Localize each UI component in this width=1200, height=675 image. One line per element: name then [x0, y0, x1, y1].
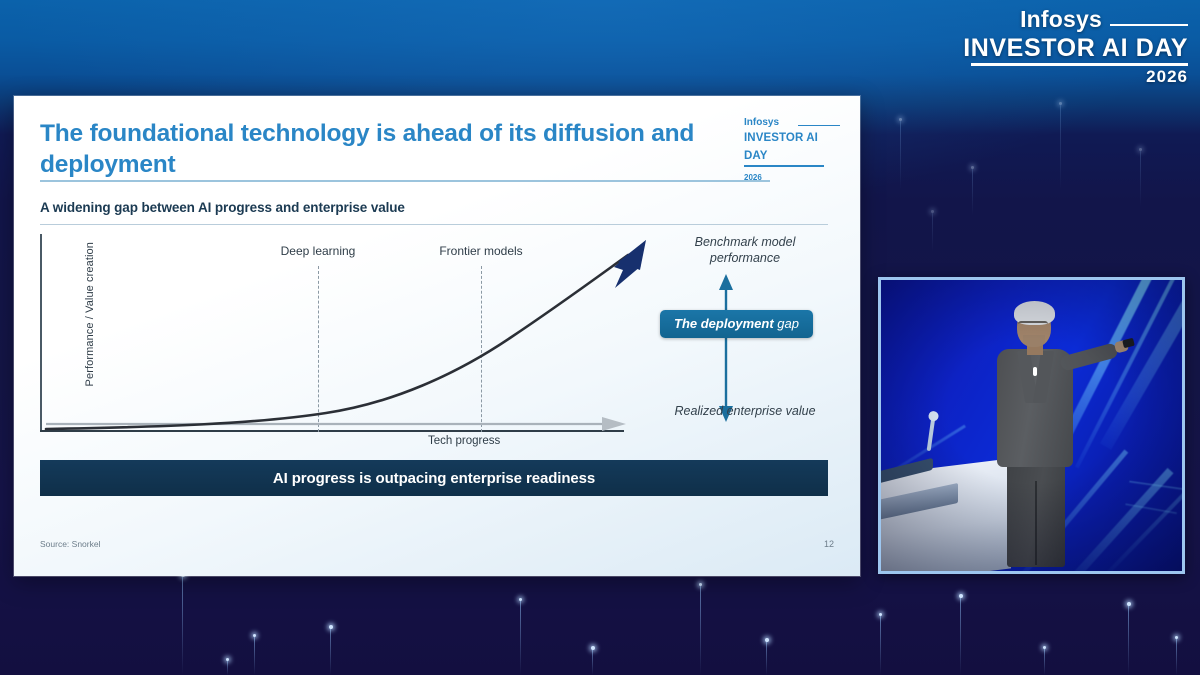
gap-double-arrow — [716, 272, 736, 424]
stage-scene — [881, 280, 1182, 571]
slide-logo-brand: Infosys — [744, 118, 840, 128]
event-logo-rule — [971, 63, 1188, 66]
presentation-slide: The foundational technology is ahead of … — [14, 96, 860, 576]
gap-top-label: Benchmark model performance — [650, 235, 840, 266]
deployment-gap-badge: The deployment gap — [660, 310, 813, 338]
video-vignette — [881, 280, 1182, 571]
subtitle-divider — [40, 224, 828, 225]
event-logo-year: 2026 — [963, 68, 1188, 85]
title-divider — [40, 180, 770, 182]
slide-logo-year: 2026 — [744, 173, 762, 182]
event-logo-title: INVESTOR AI DAY — [963, 35, 1188, 61]
realized-value-baseline-arrow — [46, 417, 626, 431]
slide-page-number: 12 — [824, 539, 834, 549]
slide-logo-rule — [744, 165, 824, 167]
deployment-gap-badge-suffix: gap — [774, 316, 799, 331]
event-logo-brand: Infosys — [1020, 8, 1188, 31]
slide-key-message-banner: AI progress is outpacing enterprise read… — [40, 460, 828, 496]
speaker-video-panel[interactable] — [878, 277, 1185, 574]
gap-bottom-label: Realized enterprise value — [640, 404, 850, 420]
slide-corner-logo: Infosys INVESTOR AI DAY 2026 — [744, 118, 840, 185]
slide-subtitle: A widening gap between AI progress and e… — [40, 200, 405, 215]
benchmark-performance-curve — [46, 240, 646, 429]
slide-title: The foundational technology is ahead of … — [40, 118, 730, 180]
event-logo: Infosys INVESTOR AI DAY 2026 — [963, 8, 1188, 85]
deployment-gap-badge-emphasis: The deployment — [674, 316, 774, 331]
deployment-gap-chart: Performance / Value creation Tech progre… — [40, 232, 828, 442]
slide-logo-title: INVESTOR AI DAY — [744, 132, 818, 162]
slide-source-note: Source: Snorkel — [40, 539, 100, 549]
